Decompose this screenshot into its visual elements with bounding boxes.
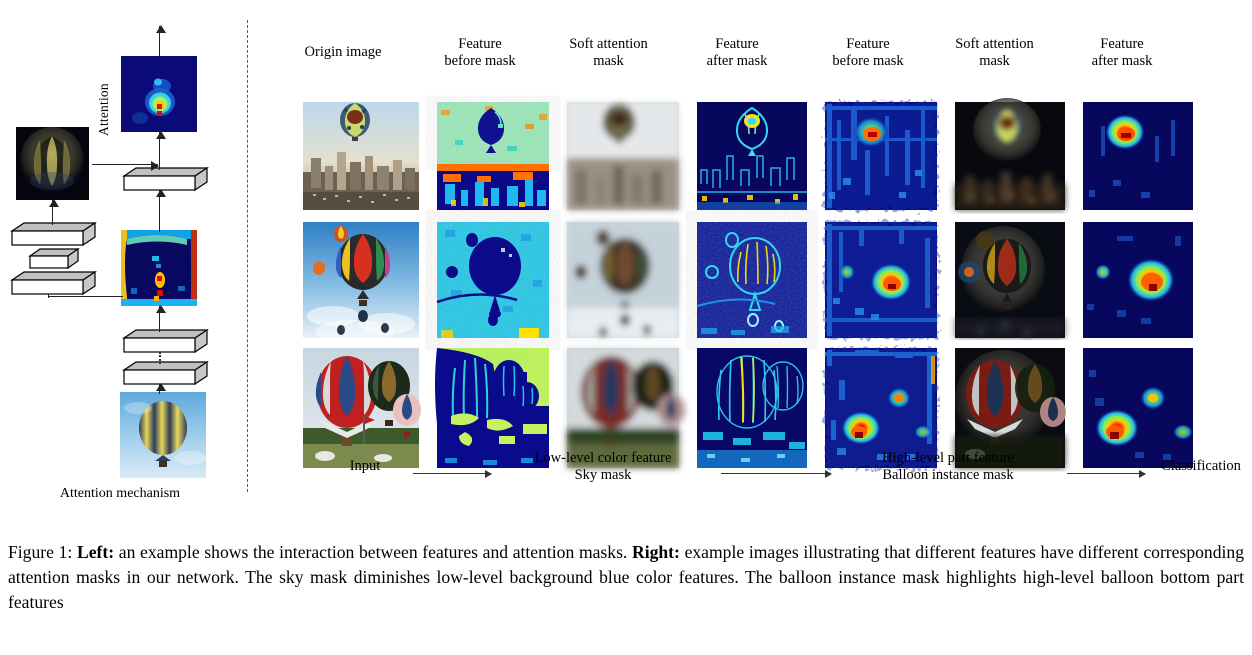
flow-input-text: Input [350,458,381,474]
flow-output-text: Classification [1161,458,1241,474]
header-line-2: before mask [415,53,545,70]
flow-label-input: Input [325,458,405,475]
examples-grid: Origin image Feature before mask Soft at… [255,18,1252,488]
cell-highlevel-after-city [1083,102,1193,210]
arrow-featuremap-to-layer [159,190,160,232]
flow-label-high-level: High-level part feature Balloon instance… [843,450,1053,485]
header-line-2: mask [928,53,1061,70]
flow-label-low-level: Low-level color feature Sky mask [503,450,703,485]
cell-highlevel-feature-city [825,102,937,210]
figure-area: Attention Attention mechanism Origin ima… [0,0,1252,500]
left-panel-caption: Attention mechanism [0,486,240,502]
column-header-feature-after-mask-high: Feature after mask [1060,36,1184,70]
cell-highlevel-after-festival [1083,348,1193,468]
attention-mechanism-diagram: Attention Attention mechanism [0,18,240,488]
left-input-photo [120,392,206,478]
panel-divider [247,20,248,492]
column-header-soft-attention-mask-low: Soft attention mask [542,36,675,70]
header-line-1: Feature [1060,36,1184,53]
flow-label-classification: Classification [1151,458,1251,475]
cell-origin-rainbow-balloon [303,222,419,344]
cell-lowlevel-after-festival [697,348,807,468]
cell-lowlevel-feature-rainbow [437,222,549,338]
left-masked-feature-thumbnail [16,127,89,200]
column-header-feature-before-mask-high: Feature before mask [803,36,933,70]
column-header-feature-before-mask-low: Feature before mask [415,36,545,70]
caption-left-text: an example shows the interaction between… [114,542,632,562]
arrow-mask-to-featuremap [159,306,160,332]
header-line-1: Soft attention [928,36,1061,53]
arrow-input-to-mask [159,384,160,394]
left-trunk-layers [12,223,95,294]
cell-lowlevel-feature-city [437,102,549,210]
cell-sky-mask-city [567,102,679,210]
cell-lowlevel-after-city [697,102,807,210]
flow-arrow-1 [413,473,491,474]
cell-balloon-mask-city [955,98,1065,210]
arrow-output-up [159,26,160,58]
column-header-feature-after-mask-low: Feature after mask [675,36,799,70]
flow-arrow-2 [721,473,831,474]
cell-origin-city-balloon [303,102,419,210]
header-line-1: Feature [675,36,799,53]
header-line-2: mask [542,53,675,70]
header-line-1: Origin image [283,44,403,61]
figure-caption: Figure 1: Left: an example shows the int… [8,540,1244,615]
cell-highlevel-feature-rainbow [825,222,937,338]
flow-stage1-line2: Sky mask [503,467,703,484]
line-mask-branch-tap [48,296,123,297]
dotted-connector [159,352,161,364]
line-mask-branch-drop [48,294,49,298]
caption-figure-number: Figure 1: [8,542,72,562]
column-header-origin-image: Origin image [283,44,403,61]
arrow-attention-apply [92,164,158,165]
caption-left-bold: Left: [77,542,114,562]
arrow-trunkbox-to-thumb [52,200,53,225]
cell-sky-mask-rainbow [567,222,679,338]
cell-lowlevel-after-rainbow [697,222,807,338]
flow-stage1-line1: Low-level color feature [503,450,703,467]
cell-highlevel-after-rainbow [1083,222,1193,338]
header-line-2: before mask [803,53,933,70]
cell-origin-festival [303,348,421,468]
cell-balloon-mask-rainbow [955,222,1065,338]
caption-right-bold: Right: [632,542,680,562]
column-header-soft-attention-mask-high: Soft attention mask [928,36,1061,70]
header-line-2: after mask [675,53,799,70]
flow-stage2-line2: Balloon instance mask [843,467,1053,484]
grid-image-canvas [255,80,1252,480]
arrow-layer-to-output [159,132,160,170]
flow-arrow-3 [1067,473,1145,474]
flow-stage2-line1: High-level part feature [843,450,1053,467]
left-feature-map-before [121,230,197,306]
attention-label: Attention [96,83,112,136]
header-line-1: Feature [803,36,933,53]
left-feature-map-after [121,56,197,132]
header-line-2: after mask [1060,53,1184,70]
left-mask-layers [124,330,207,384]
header-line-1: Feature [415,36,545,53]
header-line-1: Soft attention [542,36,675,53]
left-attention-layer [124,168,207,190]
